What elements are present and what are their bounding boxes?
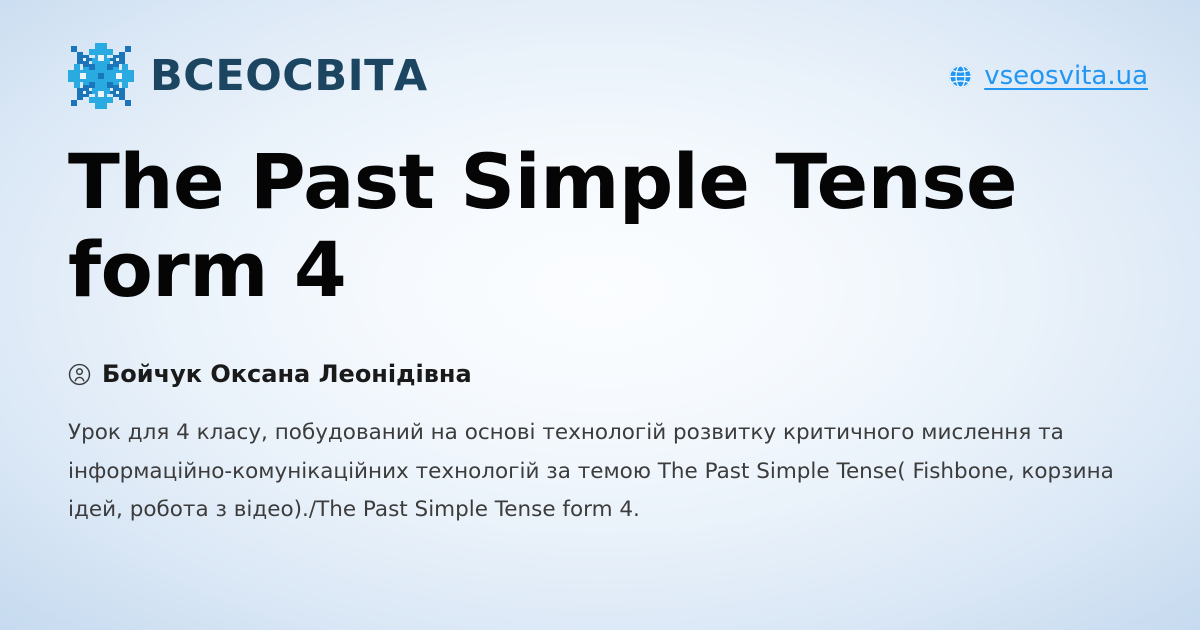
brand-logo[interactable]: ВСЕОСВІТА	[68, 43, 428, 109]
brand-wordmark: ВСЕОСВІТА	[150, 55, 428, 98]
byline: Бойчук Оксана Леонідівна	[68, 360, 1145, 388]
header: ВСЕОСВІТА vseosvita.ua	[68, 40, 1148, 112]
description-text: Урок для 4 класу, побудований на основі …	[68, 414, 1145, 529]
user-circle-icon	[68, 363, 91, 386]
globe-icon	[948, 64, 973, 89]
vseosvita-snowflake-logo-icon	[68, 43, 134, 109]
site-url-link[interactable]: vseosvita.ua	[948, 61, 1148, 91]
main-content: The Past Simple Tense form 4 Бойчук Окса…	[68, 138, 1145, 529]
site-url-label: vseosvita.ua	[984, 61, 1148, 91]
page-title: The Past Simple Tense form 4	[68, 138, 1098, 314]
author-name: Бойчук Оксана Леонідівна	[102, 360, 472, 388]
preview-card: ВСЕОСВІТА vseosvita.ua The Past Simple T…	[0, 0, 1200, 630]
